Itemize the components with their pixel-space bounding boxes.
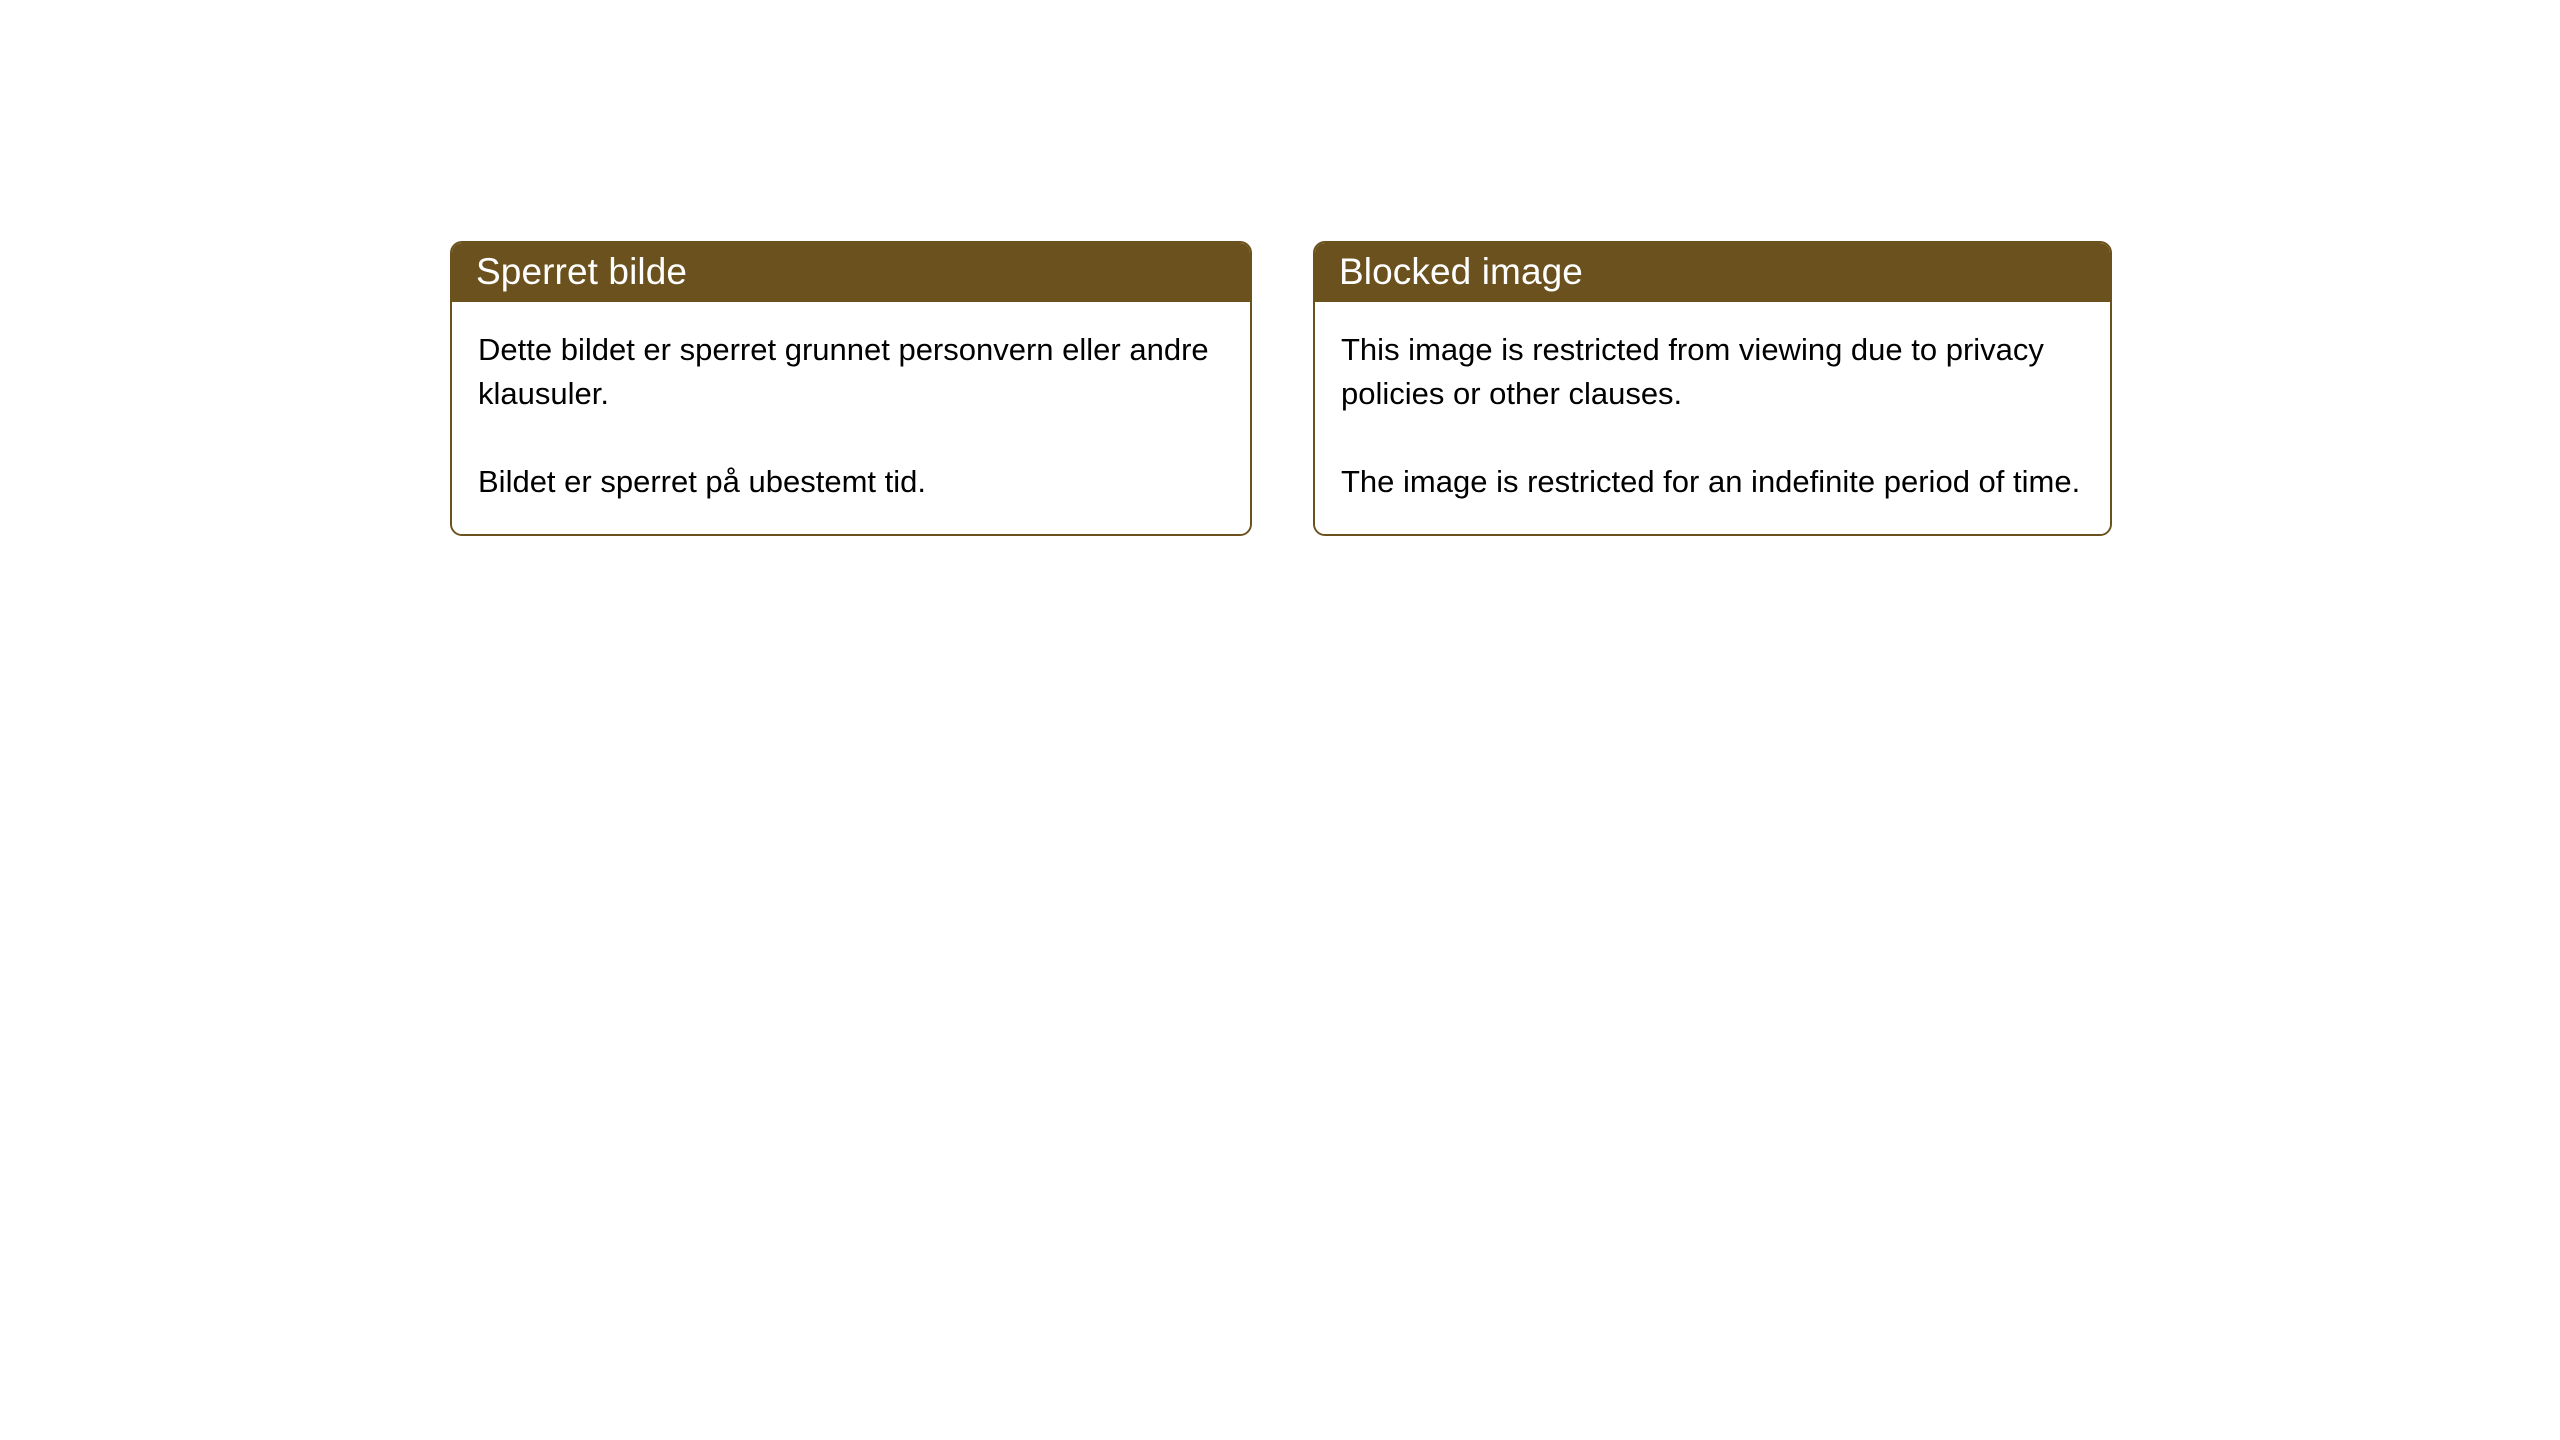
- paragraph-spacer: [478, 416, 1224, 460]
- card-paragraph-secondary-norwegian: Bildet er sperret på ubestemt tid.: [478, 460, 1218, 504]
- blocked-image-card-norwegian: Sperret bilde Dette bildet er sperret gr…: [450, 241, 1252, 536]
- card-paragraph-primary-norwegian: Dette bildet er sperret grunnet personve…: [478, 328, 1218, 416]
- card-title-english: Blocked image: [1339, 253, 1583, 290]
- card-header-english: Blocked image: [1313, 241, 2112, 302]
- blocked-image-card-english: Blocked image This image is restricted f…: [1313, 241, 2112, 536]
- card-paragraph-primary-english: This image is restricted from viewing du…: [1341, 328, 2081, 416]
- blocked-image-notice-group: Sperret bilde Dette bildet er sperret gr…: [450, 241, 2112, 536]
- card-paragraph-secondary-english: The image is restricted for an indefinit…: [1341, 460, 2081, 504]
- card-header-norwegian: Sperret bilde: [450, 241, 1252, 302]
- card-body-english: This image is restricted from viewing du…: [1315, 302, 2110, 534]
- card-body-norwegian: Dette bildet er sperret grunnet personve…: [452, 302, 1250, 534]
- card-title-norwegian: Sperret bilde: [476, 253, 687, 290]
- paragraph-spacer: [1341, 416, 2084, 460]
